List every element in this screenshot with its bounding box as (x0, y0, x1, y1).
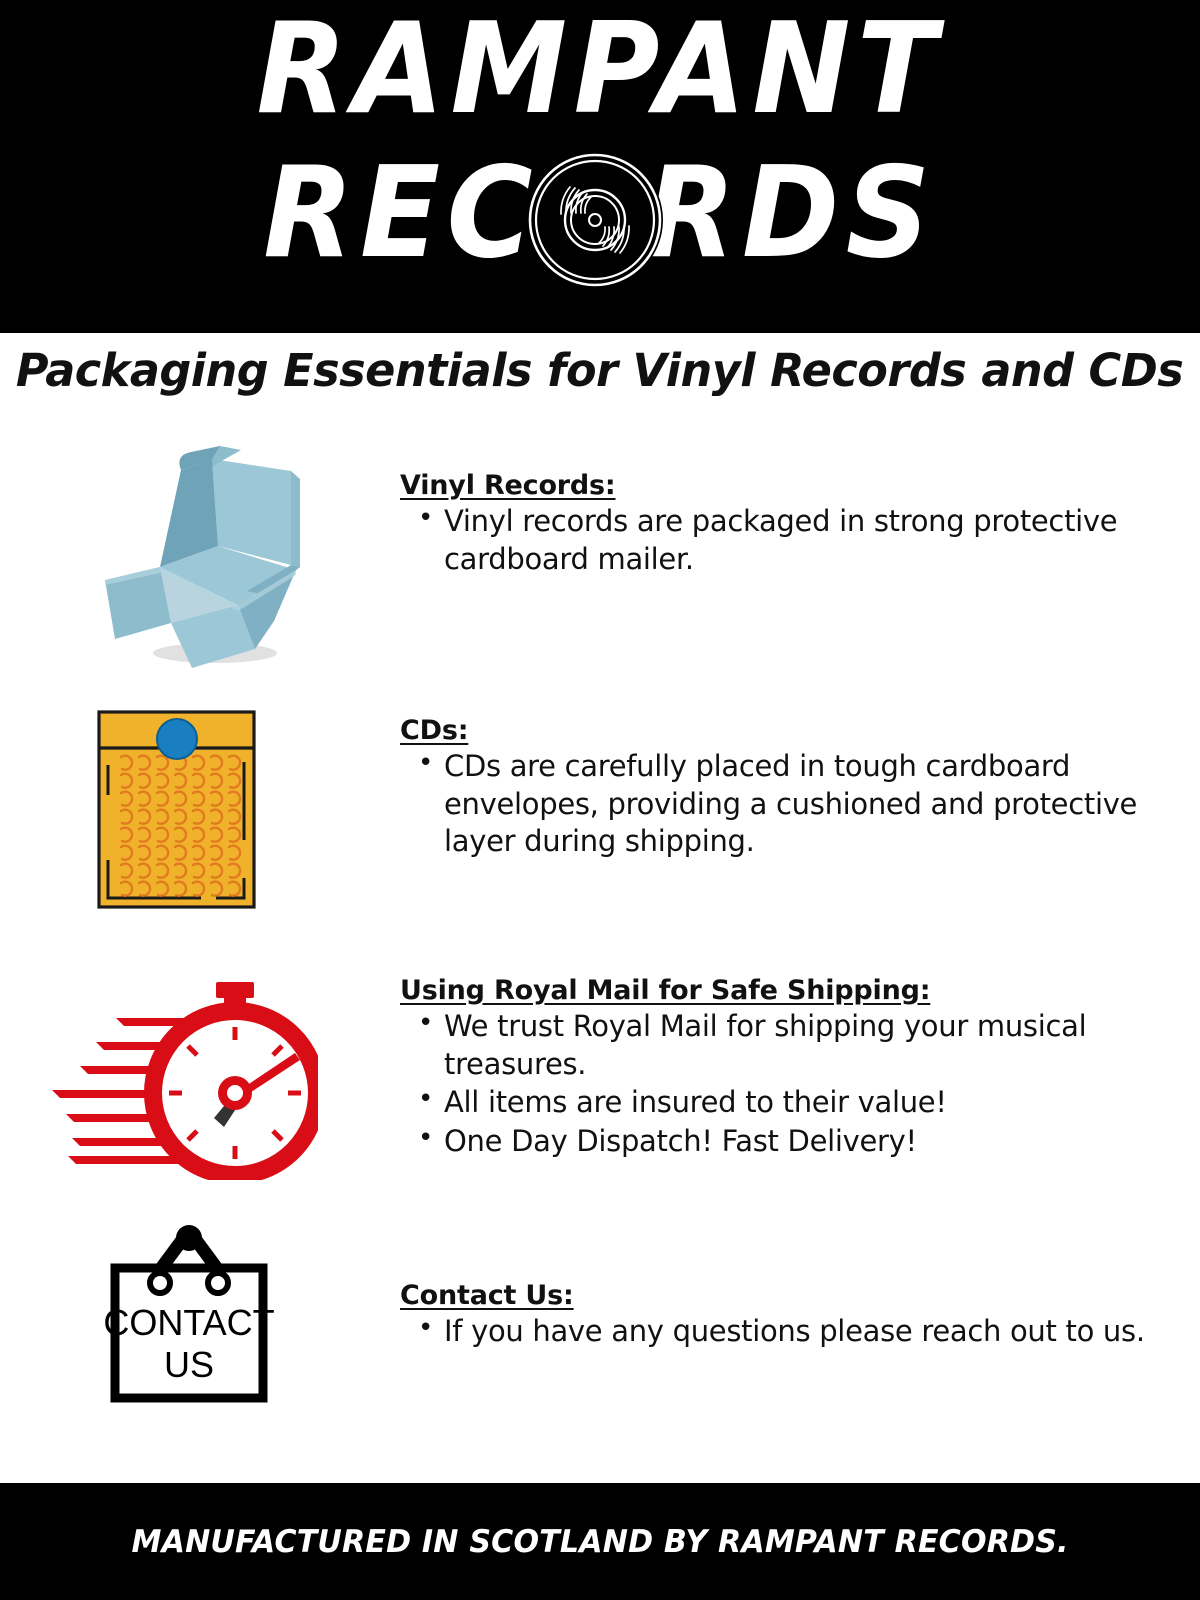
section-body: CDs: CDs are carefully placed in tough c… (400, 700, 1200, 862)
section-icon-slot: CONTACT US (0, 1220, 400, 1410)
padded-envelope-icon (81, 700, 291, 915)
section-bullet-list: If you have any questions please reach o… (400, 1313, 1160, 1351)
page-subtitle-text: Packaging Essentials for Vinyl Records a… (16, 344, 1183, 397)
section-body: Contact Us: If you have any questions pl… (400, 1220, 1200, 1352)
section-contact-us: CONTACT US Contact Us: If you have any q… (0, 1220, 1200, 1430)
logo-line-2-after: RDS (645, 139, 936, 286)
section-heading-contact-us: Contact Us: (400, 1280, 1160, 1311)
section-icon-slot (0, 700, 400, 915)
footer-text: MANUFACTURED IN SCOTLAND BY RAMPANT RECO… (131, 1524, 1068, 1560)
section-royal-mail-shipping: Using Royal Mail for Safe Shipping: We t… (0, 950, 1200, 1220)
list-item: Vinyl records are packaged in strong pro… (444, 503, 1160, 578)
cardboard-mailer-box-icon (75, 415, 325, 675)
section-bullet-list: We trust Royal Mail for shipping your mu… (400, 1008, 1160, 1161)
section-cds: CDs: CDs are carefully placed in tough c… (0, 700, 1200, 950)
list-item: We trust Royal Mail for shipping your mu… (444, 1008, 1160, 1083)
section-body: Vinyl Records: Vinyl records are package… (400, 415, 1200, 579)
section-heading-royal-mail: Using Royal Mail for Safe Shipping: (400, 975, 1160, 1006)
sections-container: Vinyl Records: Vinyl records are package… (0, 415, 1200, 1430)
section-icon-slot (0, 950, 400, 1180)
contact-sign-line-1: CONTACT (103, 1302, 274, 1343)
logo-line-1: RAMPANT (42, 6, 1158, 132)
list-item: One Day Dispatch! Fast Delivery! (444, 1123, 1160, 1161)
header-banner: RAMPANT RECORDS (0, 0, 1200, 333)
vinyl-record-icon (527, 152, 663, 288)
footer-banner: MANUFACTURED IN SCOTLAND BY RAMPANT RECO… (0, 1483, 1200, 1600)
contact-us-sign-icon: CONTACT US (89, 1220, 289, 1410)
logo-line-2-before: REC (263, 139, 539, 286)
section-icon-slot (0, 415, 400, 675)
list-item: If you have any questions please reach o… (444, 1313, 1160, 1351)
section-heading-vinyl-records: Vinyl Records: (400, 470, 1160, 501)
section-vinyl-records: Vinyl Records: Vinyl records are package… (0, 415, 1200, 700)
list-item: CDs are carefully placed in tough cardbo… (444, 748, 1160, 861)
section-bullet-list: CDs are carefully placed in tough cardbo… (400, 748, 1160, 861)
section-body: Using Royal Mail for Safe Shipping: We t… (400, 950, 1200, 1162)
section-bullet-list: Vinyl records are packaged in strong pro… (400, 503, 1160, 578)
fast-stopwatch-icon (38, 950, 318, 1180)
page-subtitle: Packaging Essentials for Vinyl Records a… (0, 336, 1200, 404)
list-item: All items are insured to their value! (444, 1084, 1160, 1122)
contact-sign-line-2: US (164, 1344, 214, 1385)
section-heading-cds: CDs: (400, 715, 1160, 746)
